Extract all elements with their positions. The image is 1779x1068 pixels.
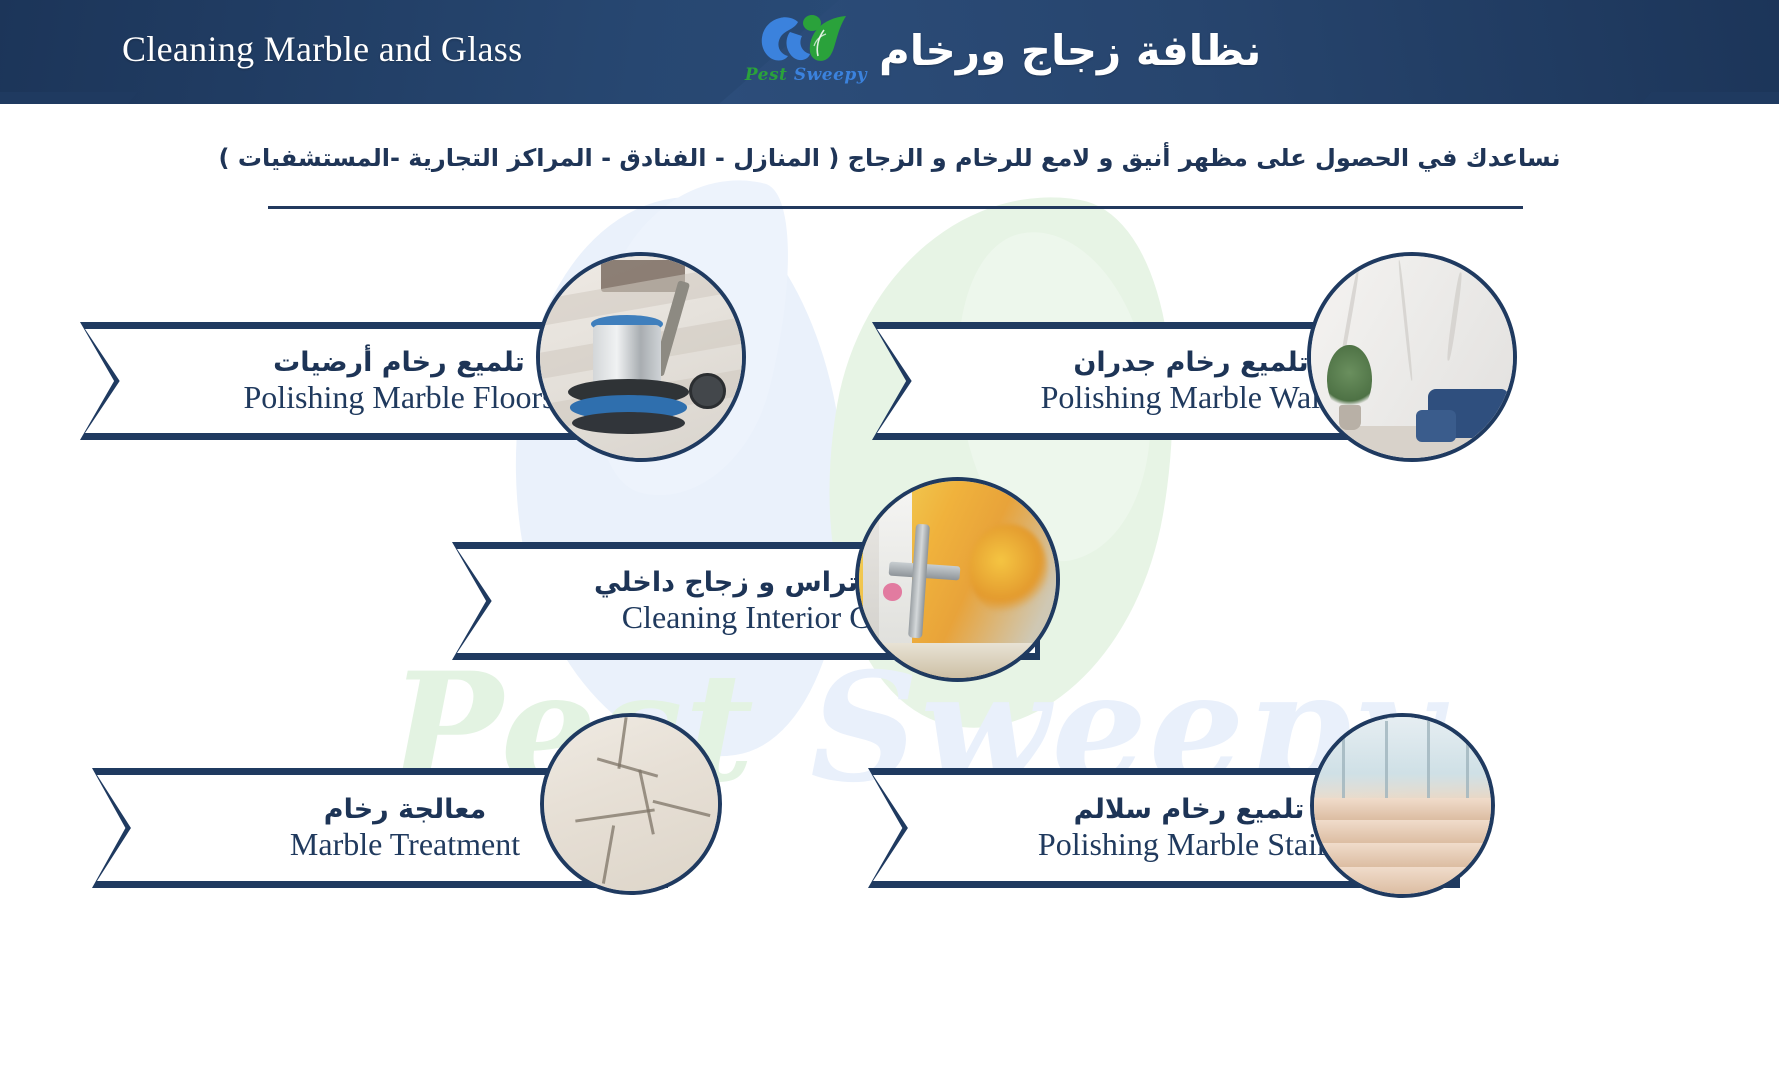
service-label-arabic: تلميع رخام جدران — [1073, 347, 1308, 378]
service-photo-floor-polishing-machine — [536, 252, 746, 462]
header-left-notch — [0, 92, 138, 104]
header-right-notch — [1641, 92, 1779, 104]
page-header: Cleaning Marble and Glass نظافة زجاج ورخ… — [0, 0, 1779, 104]
subtitle-text: نساعدك في الحصول على مظهر أنيق و لامع لل… — [219, 142, 1561, 174]
header-right-banner: نظافة زجاج ورخام — [719, 0, 1779, 104]
service-photo-marble-stairs — [1310, 713, 1495, 898]
brand-logo-wordmark: Pest Sweepy — [736, 65, 876, 85]
service-photo-cracked-marble — [540, 713, 722, 895]
infographic-canvas: Pest Sweepy Cleaning Marble and Glass نظ… — [0, 0, 1779, 1068]
service-label-english: Polishing Marble Floors — [243, 380, 554, 415]
service-label-english: Marble Treatment — [290, 827, 520, 862]
service-label-english: Polishing Marble Walls — [1041, 380, 1342, 415]
service-photo-squeegee-window — [855, 477, 1060, 682]
service-label-arabic: تلميع رخام أرضيات — [273, 347, 525, 378]
service-label-arabic: تلميع رخام سلالم — [1074, 794, 1305, 825]
logo-word-sweepy: Sweepy — [794, 65, 867, 85]
subtitle-row: نساعدك في الحصول على مظهر أنيق و لامع لل… — [0, 142, 1779, 174]
page-title-arabic: نظافة زجاج ورخام — [879, 26, 1261, 75]
subtitle-divider — [268, 206, 1523, 209]
service-label-english: Polishing Marble Stairs — [1038, 827, 1340, 862]
brand-logo: Pest Sweepy — [736, 10, 876, 102]
service-label-arabic: معالجة رخام — [324, 794, 486, 825]
pest-sweepy-emblem-icon — [750, 10, 862, 68]
page-title-english: Cleaning Marble and Glass — [122, 28, 522, 70]
logo-word-pest: Pest — [745, 65, 788, 85]
service-photo-marble-wall-interior — [1307, 252, 1517, 462]
